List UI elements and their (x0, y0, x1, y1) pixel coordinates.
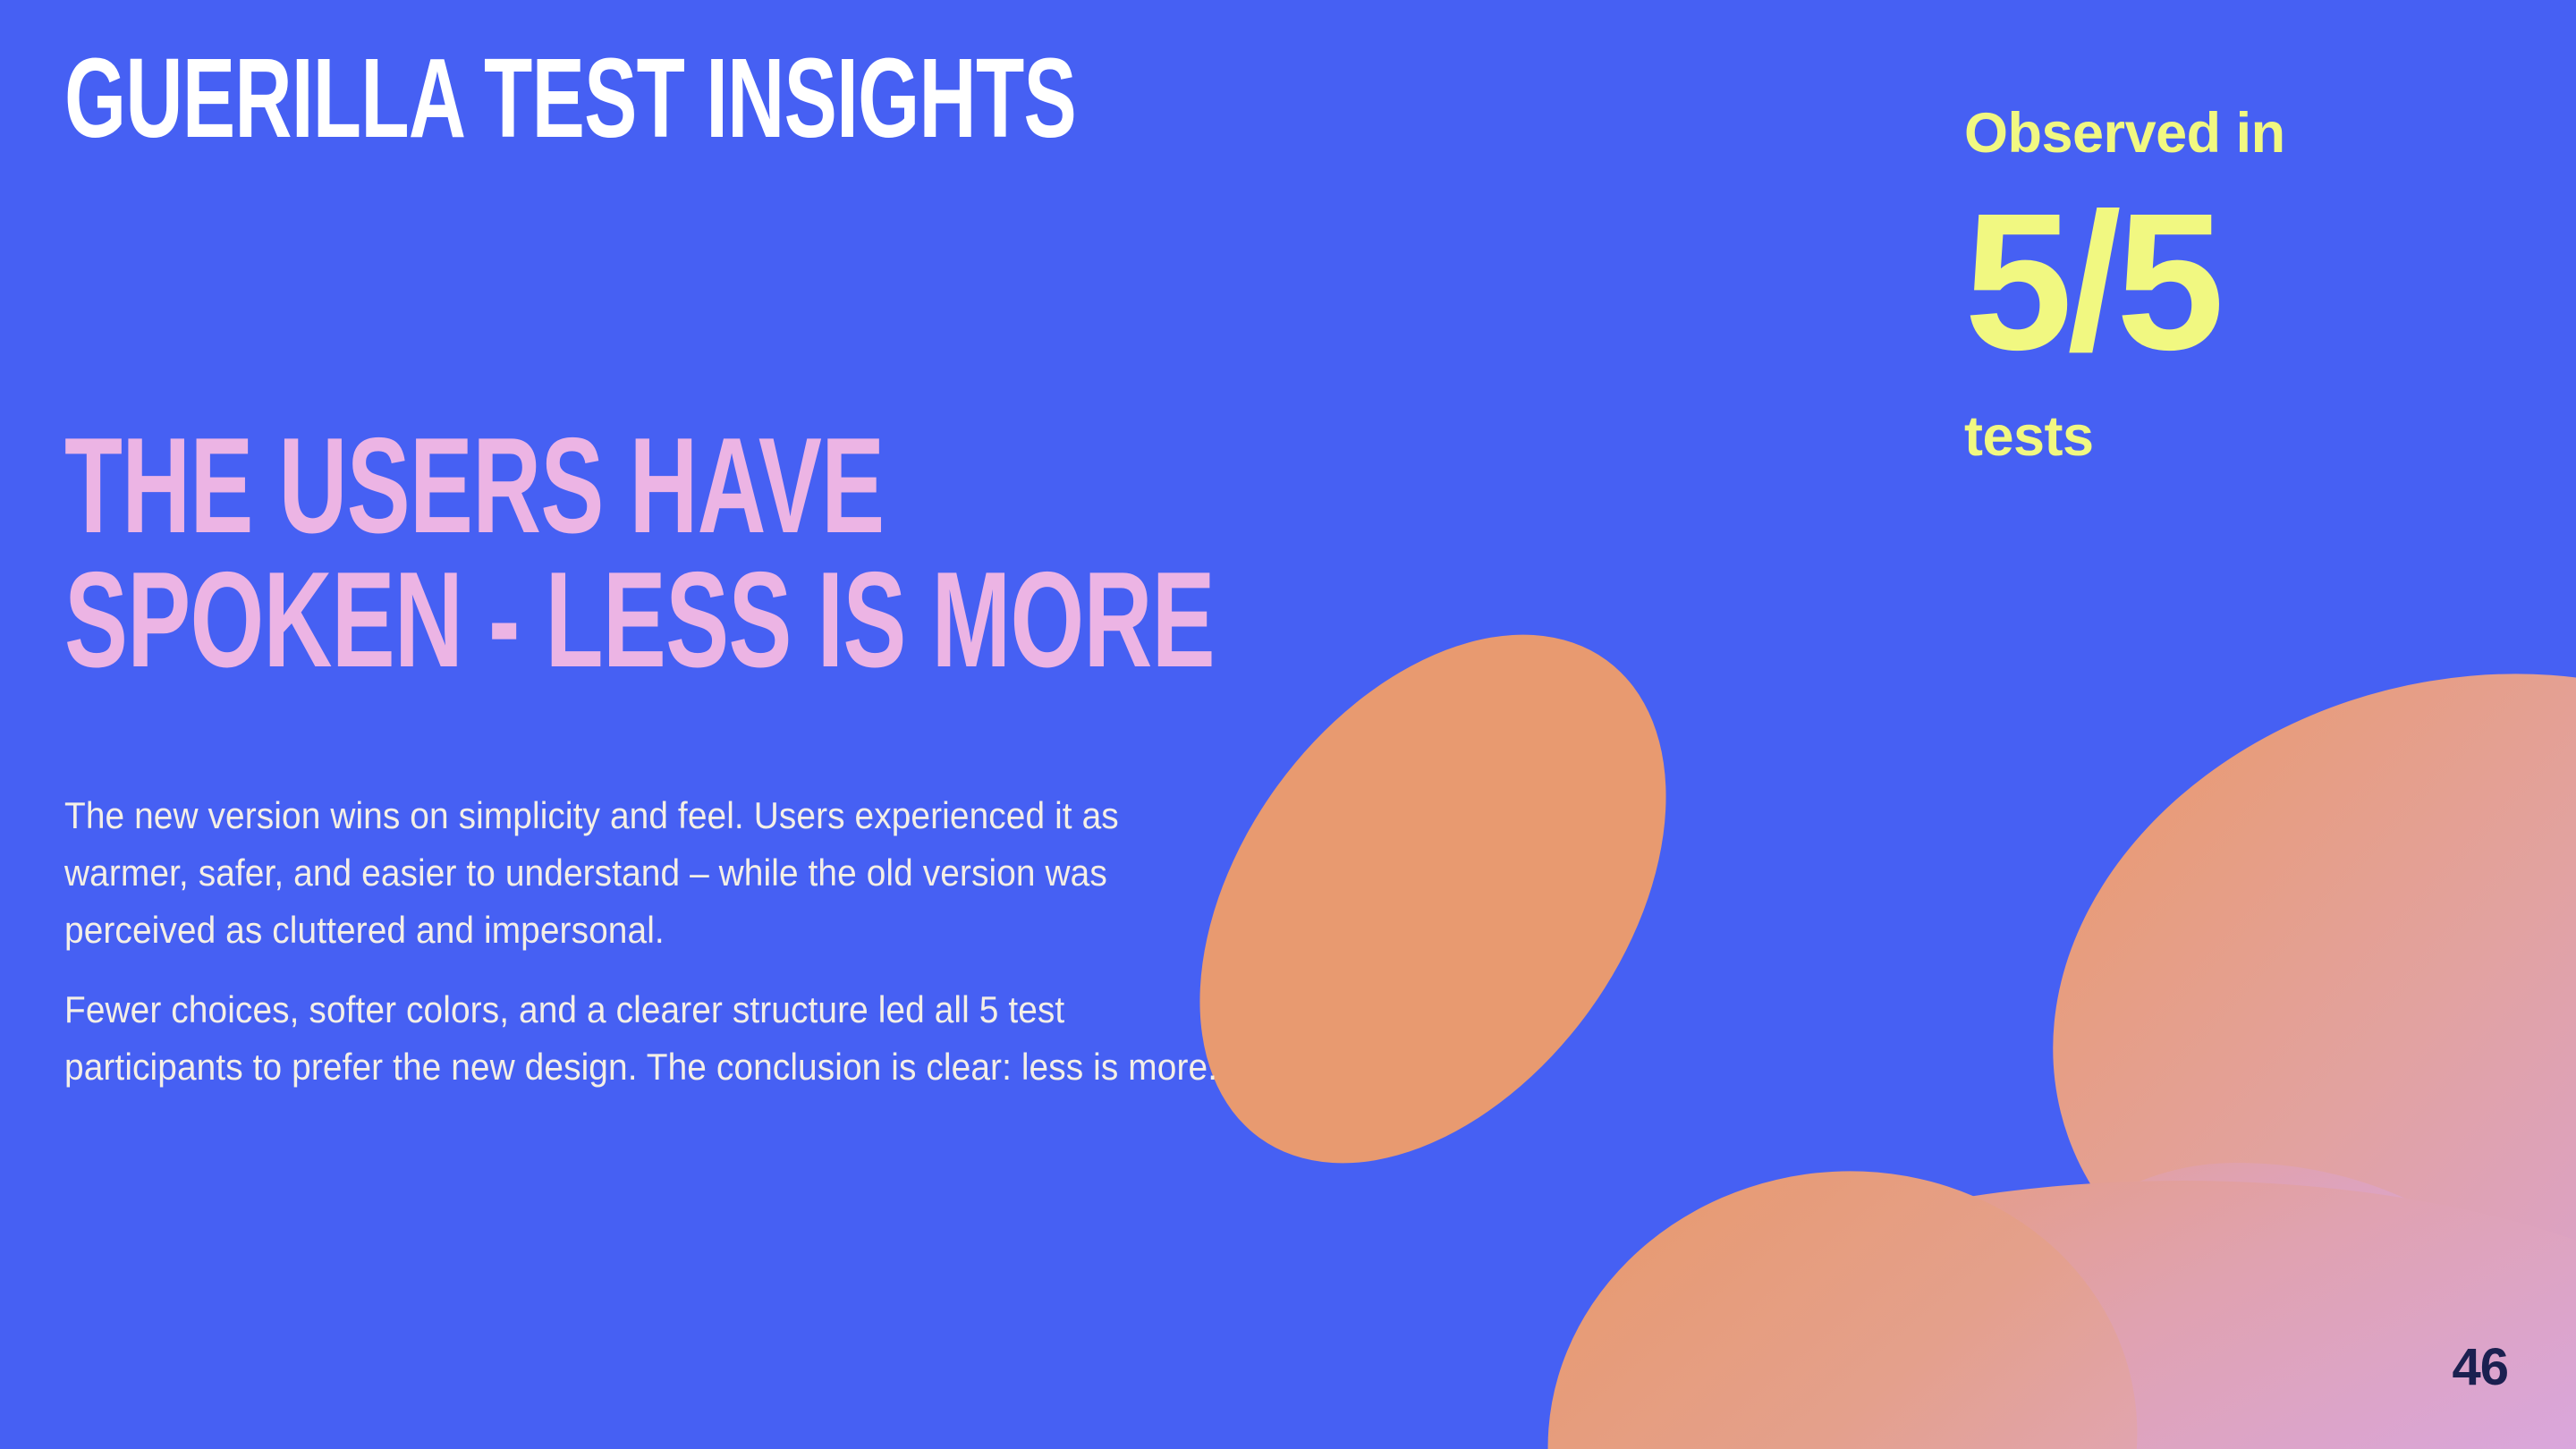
body-paragraph-2: Fewer choices, softer colors, and a clea… (64, 981, 1248, 1096)
page-number: 46 (2452, 1342, 2508, 1394)
body-copy: The new version wins on simplicity and f… (64, 787, 1248, 1096)
stat-callout: Observed in 5/5 tests (1964, 106, 2285, 465)
stat-label-top: Observed in (1964, 106, 2285, 162)
slide-canvas: GUERILLA TEST INSIGHTS THE USERS HAVE SP… (0, 0, 2576, 1449)
blob-bottom-sweep (1556, 1163, 2576, 1449)
blob-gradient-lobe-right (1980, 588, 2576, 1449)
headline-line-1: THE USERS HAVE (64, 419, 1215, 553)
stat-value: 5/5 (1964, 187, 2285, 378)
stat-label-bottom: tests (1964, 409, 2285, 465)
page-title: THE USERS HAVE SPOKEN - LESS IS MORE (64, 419, 1215, 688)
blob-gradient-lobe-left (1513, 1133, 2172, 1449)
body-paragraph-1: The new version wins on simplicity and f… (64, 787, 1248, 958)
headline-line-2: SPOKEN - LESS IS MORE (64, 553, 1215, 687)
slide-kicker-title: GUERILLA TEST INSIGHTS (64, 41, 1076, 157)
